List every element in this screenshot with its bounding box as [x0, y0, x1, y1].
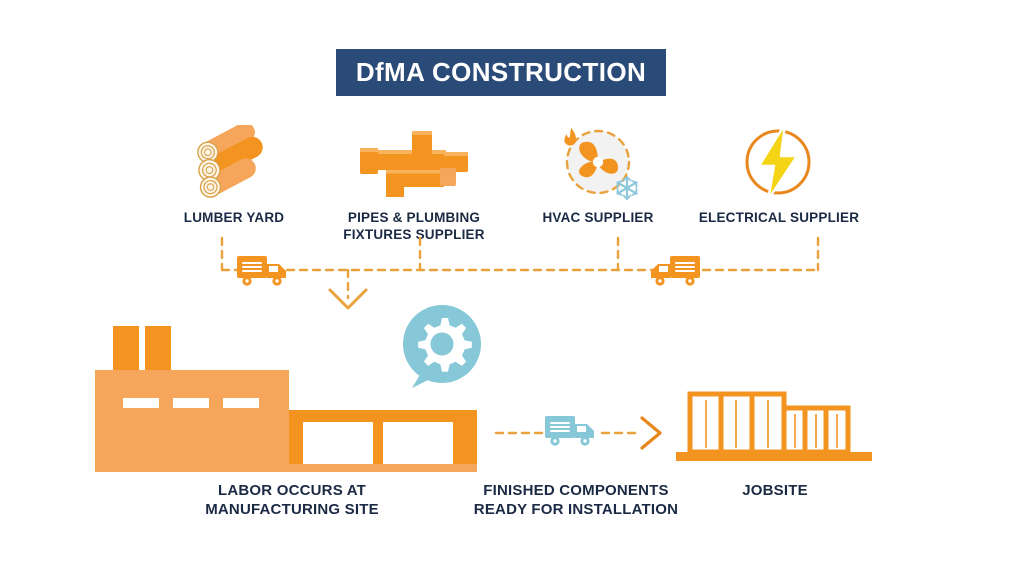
stage-label-jobsite: JOBSITE	[700, 481, 850, 500]
infographic-canvas: DfMA CONSTRUCTION	[0, 0, 1024, 576]
stage-label-line2: MANUFACTURING SITE	[190, 500, 394, 519]
lightning-bolt-icon	[735, 120, 821, 204]
gear-speech-bubble-icon	[396, 304, 488, 392]
supplier-label-hvac: HVAC SUPPLIER	[523, 209, 673, 226]
stage-label-manufacturing-site: LABOR OCCURS AT MANUFACTURING SITE	[190, 481, 394, 519]
supplier-flow-connectors	[200, 232, 840, 312]
building-jobsite-icon	[676, 388, 876, 468]
pipes-icon	[348, 128, 478, 200]
delivery-truck-blue-icon	[544, 410, 602, 452]
lumber-logs-icon	[183, 125, 288, 205]
page-title: DfMA CONSTRUCTION	[356, 57, 646, 88]
delivery-truck-icon	[643, 252, 701, 290]
supplier-label-lumber-yard: LUMBER YARD	[158, 209, 310, 226]
hvac-fan-icon	[548, 118, 648, 206]
stage-label-finished-components: FINISHED COMPONENTS READY FOR INSTALLATI…	[462, 481, 690, 519]
chevron-right-arrow-icon	[642, 418, 660, 448]
stage-label-line1: LABOR OCCURS AT	[190, 481, 394, 500]
stage-label-line2: READY FOR INSTALLATION	[462, 500, 690, 519]
supplier-label-line1: PIPES & PLUMBING	[330, 209, 498, 226]
page-title-bar: DfMA CONSTRUCTION	[336, 49, 666, 96]
supplier-label-electrical: ELECTRICAL SUPPLIER	[692, 209, 866, 226]
stage-label-line1: FINISHED COMPONENTS	[462, 481, 690, 500]
delivery-truck-icon	[236, 252, 294, 290]
